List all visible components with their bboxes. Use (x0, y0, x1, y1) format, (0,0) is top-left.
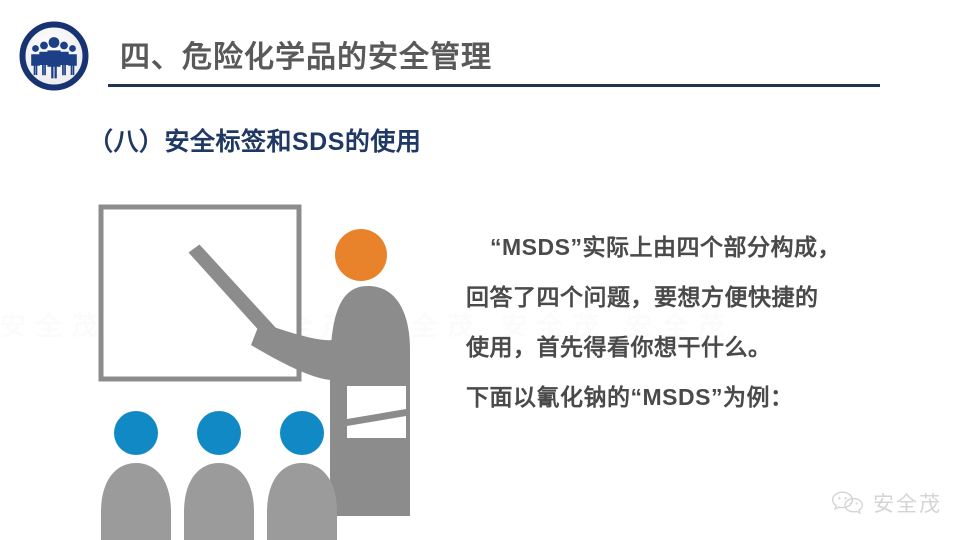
student-figure (267, 411, 337, 540)
teacher-head-icon (335, 229, 387, 281)
student-head-icon (114, 411, 158, 455)
body-paragraph: “MSDS”实际上由四个部分构成， 回答了四个问题，要想方便快捷的 使用，首先得… (466, 222, 916, 422)
student-head-icon (280, 411, 324, 455)
slide-canvas: 四、危险化学品的安全管理 （八）安全标签和SDS的使用 安全茂 安全茂 安全茂 … (0, 0, 960, 540)
wechat-bubbles-icon (831, 490, 865, 516)
corner-watermark: 安全茂 (831, 488, 942, 518)
page-title: 四、危险化学品的安全管理 (120, 32, 492, 76)
body-line-1: “MSDS”实际上由四个部分构成， (466, 222, 916, 272)
student-figure (184, 411, 254, 540)
student-head-icon (197, 411, 241, 455)
teacher-book-shape (347, 386, 406, 438)
teacher-whiteboard-classroom-illustration (80, 190, 440, 540)
slide-header: 四、危险化学品的安全管理 (0, 0, 960, 100)
body-line-2: 回答了四个问题，要想方便快捷的 (466, 272, 916, 322)
body-line-3: 使用，首先得看你想干什么。 (466, 322, 916, 372)
body-line-4: 下面以氰化钠的“MSDS”为例： (466, 372, 916, 422)
header-divider (108, 84, 880, 87)
student-figure (101, 411, 171, 540)
watermark-label: 安全茂 (873, 488, 942, 518)
group-people-circle-icon (18, 20, 90, 92)
section-subtitle: （八）安全标签和SDS的使用 (88, 122, 421, 158)
